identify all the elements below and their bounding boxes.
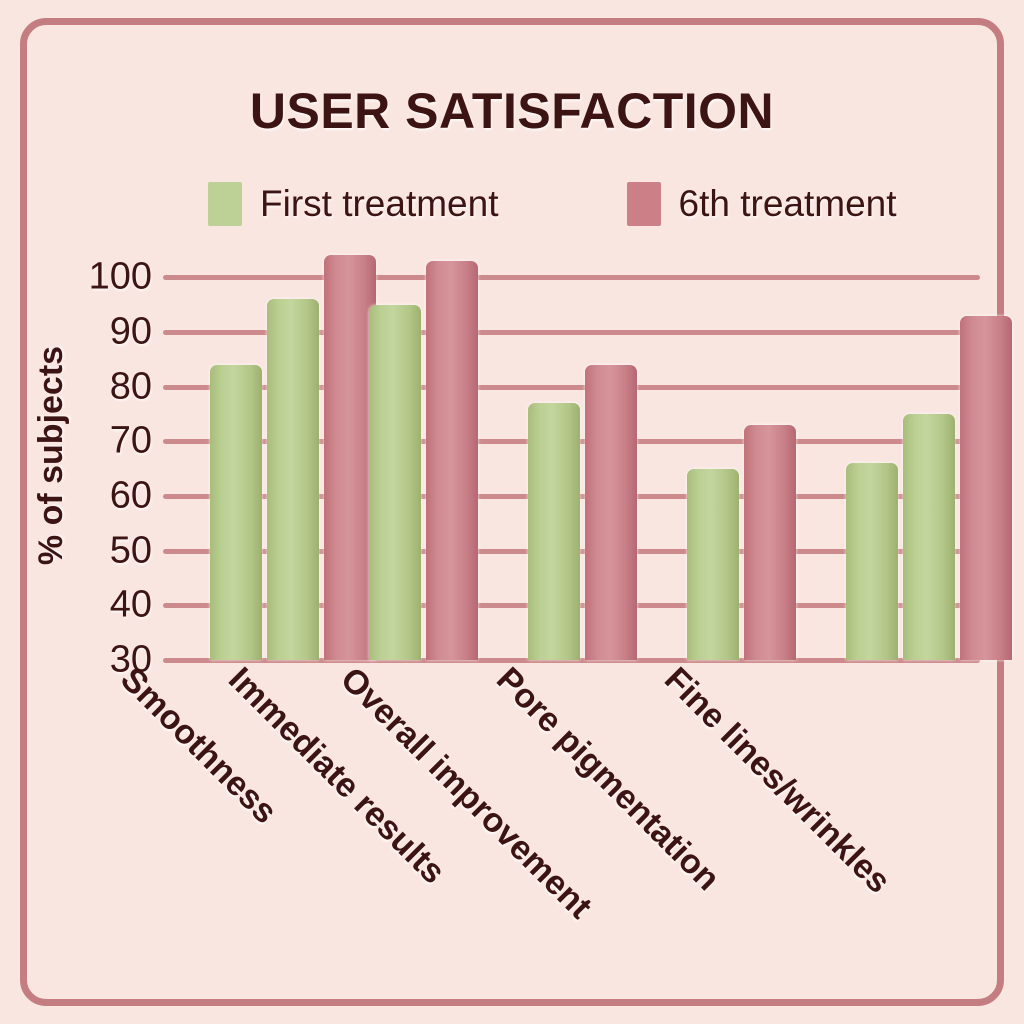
chart-title: USER SATISFACTION (0, 82, 1024, 140)
y-axis-tick-label: 60 (110, 475, 152, 518)
legend-swatch-first-treatment (208, 182, 242, 226)
plot-area (185, 250, 980, 660)
chart-poster: USER SATISFACTION First treatment 6th tr… (0, 0, 1024, 1024)
y-axis-tick-label: 80 (110, 365, 152, 408)
y-axis-tick-label: 40 (110, 584, 152, 627)
bar-first-treatment-4 (846, 463, 898, 660)
y-axis-tick-label: 70 (110, 420, 152, 463)
y-axis-tick (163, 439, 193, 444)
y-axis-tick-label: 50 (110, 529, 152, 572)
y-axis-tick (163, 385, 193, 390)
legend-item-first-treatment: First treatment (208, 182, 499, 226)
y-axis-tick-label: 90 (110, 311, 152, 354)
bar-6th-treatment-3 (744, 425, 796, 660)
gridline (185, 275, 980, 280)
legend-swatch-6th-treatment (627, 182, 661, 226)
x-axis-tick-labels: SmoothnessImmediate resultsOverall impro… (0, 660, 1024, 980)
bar-6th-treatment-2 (585, 365, 637, 660)
legend-item-6th-treatment: 6th treatment (627, 182, 897, 226)
bar-first-treatment-3 (687, 469, 739, 660)
bar-first-treatment-0 (210, 365, 262, 660)
bar-first-treatment-extra-0 (267, 299, 319, 660)
bar-first-treatment-extra-4 (903, 414, 955, 660)
bar-6th-treatment-4 (960, 316, 1012, 660)
y-axis-tick (163, 494, 193, 499)
y-axis-tick (163, 603, 193, 608)
legend-label-first-treatment: First treatment (260, 183, 499, 225)
chart-legend: First treatment 6th treatment (208, 182, 948, 226)
bar-first-treatment-1 (369, 305, 421, 660)
bar-first-treatment-2 (528, 403, 580, 660)
y-axis-tick (163, 330, 193, 335)
y-axis-tick-label: 100 (89, 256, 152, 299)
y-axis-tick-labels: 30405060708090100 (0, 250, 160, 660)
legend-label-6th-treatment: 6th treatment (679, 183, 897, 225)
y-axis-tick (163, 275, 193, 280)
bar-6th-treatment-1 (426, 261, 478, 660)
y-axis-tick (163, 549, 193, 554)
